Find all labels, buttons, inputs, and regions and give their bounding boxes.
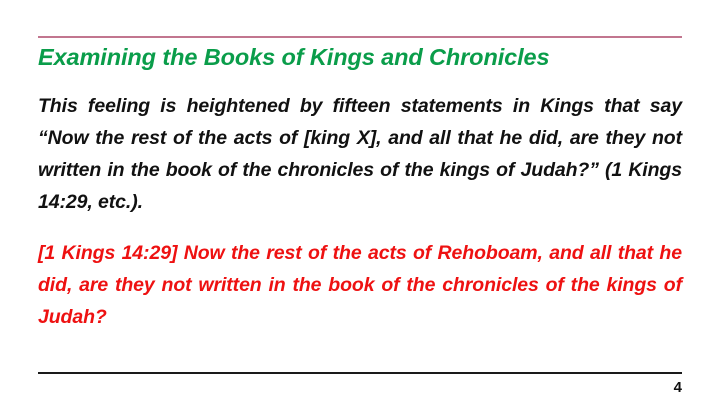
title-divider-rule xyxy=(38,36,682,38)
page-title: Examining the Books of Kings and Chronic… xyxy=(38,43,688,71)
slide: Examining the Books of Kings and Chronic… xyxy=(0,0,720,405)
paragraph-scripture-quote: [1 Kings 14:29] Now the rest of the acts… xyxy=(38,237,682,333)
footer-divider-rule xyxy=(38,372,682,374)
paragraph-commentary: This feeling is heightened by fifteen st… xyxy=(38,90,682,218)
slide-body: This feeling is heightened by fifteen st… xyxy=(38,90,682,333)
page-number: 4 xyxy=(674,379,682,396)
